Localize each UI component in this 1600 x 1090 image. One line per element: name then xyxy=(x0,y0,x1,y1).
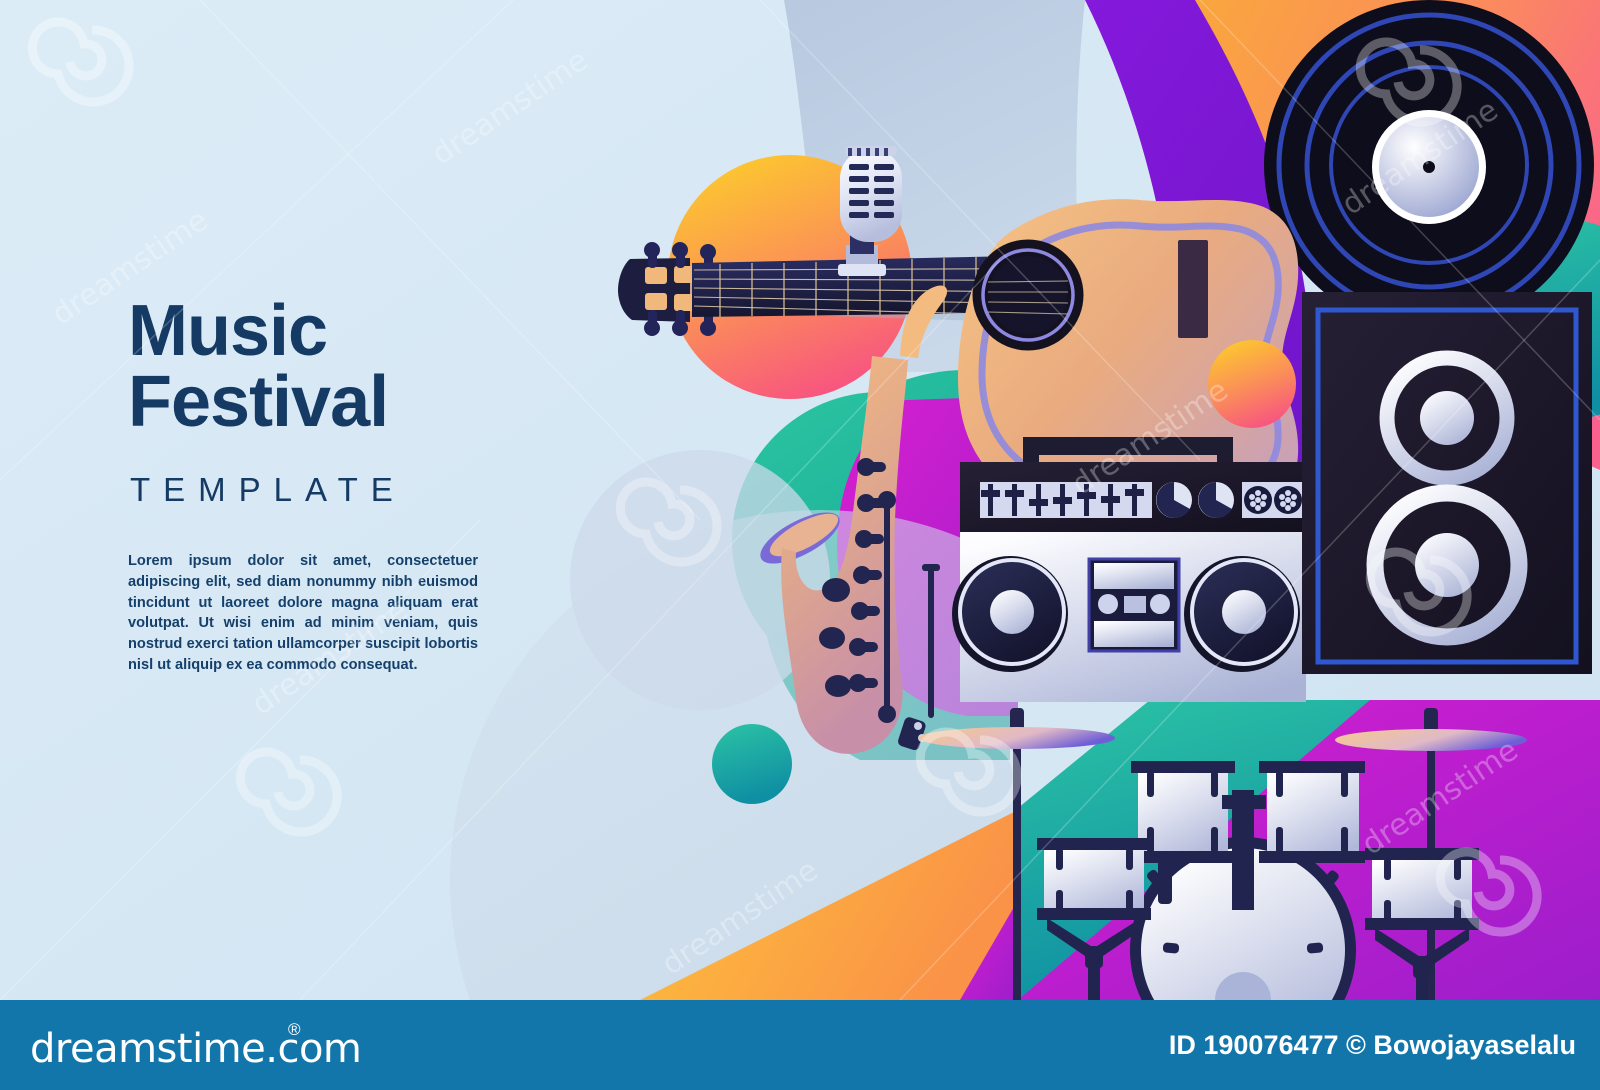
poster-text-block: Music Festival TEMPLATE Lorem ipsum dolo… xyxy=(128,296,488,675)
image-id-credit: ID 190076477 © Bowojayaselalu xyxy=(1169,1030,1576,1061)
dreamstime-footer-bar: dreamstime.com ® ID 190076477 © Bowojaya… xyxy=(0,1000,1600,1090)
boombox-stereo xyxy=(952,437,1306,702)
subtitle: TEMPLATE xyxy=(130,471,488,509)
body-paragraph: Lorem ipsum dolor sit amet, consectetuer… xyxy=(128,551,478,675)
title-line-2: Festival xyxy=(128,367,488,438)
title-line-1: Music xyxy=(128,291,327,371)
speaker-cabinet xyxy=(1302,292,1592,674)
poster-canvas: dreamstime dreamstime dreamstime dreamst… xyxy=(0,0,1600,1090)
dreamstime-logo: dreamstime.com xyxy=(30,1026,361,1072)
page-title: Music Festival xyxy=(128,296,488,437)
vinyl-record xyxy=(1264,0,1594,330)
registered-mark-icon: ® xyxy=(288,1020,301,1040)
